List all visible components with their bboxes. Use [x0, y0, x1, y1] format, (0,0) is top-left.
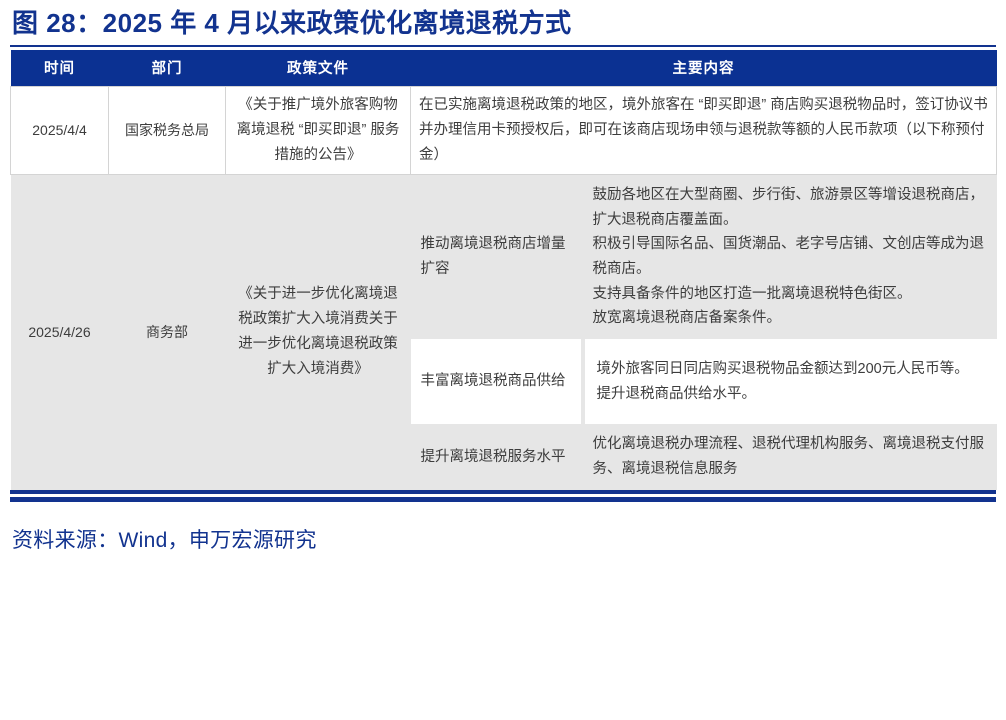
cell-doc: 《关于进一步优化离境退税政策扩大入境消费关于进一步优化离境退税政策扩大入境消费》: [226, 175, 411, 490]
sub-row-topic: 丰富离境退税商品供给: [411, 339, 581, 424]
sub-row-line: 提升退税商品供给水平。: [597, 382, 979, 407]
page-title: 图 28：2025 年 4 月以来政策优化离境退税方式: [10, 0, 996, 43]
column-header-dept: 部门: [109, 50, 226, 87]
sub-row-topic: 提升离境退税服务水平: [411, 424, 581, 489]
sub-row-topic: 推动离境退税商店增量扩容: [411, 175, 581, 339]
figure-page: 图 28：2025 年 4 月以来政策优化离境退税方式 时间 部门 政策文件 主…: [0, 0, 1006, 720]
sub-row-line: 优化离境退税办理流程、退税代理机构服务、离境退税支付服务、离境退税信息服务: [593, 432, 987, 481]
cell-doc: 《关于推广境外旅客购物离境退税 “即买即退” 服务措施的公告》: [226, 87, 411, 175]
table-row: 2025/4/26 商务部 《关于进一步优化离境退税政策扩大入境消费关于进一步优…: [11, 175, 997, 490]
cell-content-group: 推动离境退税商店增量扩容 鼓励各地区在大型商圈、步行街、旅游景区等增设退税商店，…: [411, 175, 997, 490]
sub-row: 提升离境退税服务水平 优化离境退税办理流程、退税代理机构服务、离境退税支付服务、…: [411, 424, 997, 489]
cell-time: 2025/4/4: [11, 87, 109, 175]
cell-dept: 商务部: [109, 175, 226, 490]
sub-row-body: 优化离境退税办理流程、退税代理机构服务、离境退税支付服务、离境退税信息服务: [581, 424, 997, 489]
column-header-time: 时间: [11, 50, 109, 87]
sub-row-line: 支持具备条件的地区打造一批离境退税特色街区。: [593, 282, 987, 307]
cell-time: 2025/4/26: [11, 175, 109, 490]
sub-row: 推动离境退税商店增量扩容 鼓励各地区在大型商圈、步行街、旅游景区等增设退税商店，…: [411, 175, 997, 339]
table-header-row: 时间 部门 政策文件 主要内容: [11, 50, 997, 87]
sub-row-body: 境外旅客同日同店购买退税物品金额达到200元人民币等。 提升退税商品供给水平。: [581, 339, 997, 424]
sub-row-body: 鼓励各地区在大型商圈、步行街、旅游景区等增设退税商店，扩大退税商店覆盖面。 积极…: [581, 175, 997, 339]
policy-table: 时间 部门 政策文件 主要内容 2025/4/4 国家税务总局 《关于推广境外旅…: [10, 50, 997, 489]
sub-row-line: 积极引导国际名品、国货潮品、老字号店铺、文创店等成为退税商店。: [593, 232, 987, 281]
sub-row-line: 境外旅客同日同店购买退税物品金额达到200元人民币等。: [597, 357, 979, 382]
column-header-content: 主要内容: [411, 50, 997, 87]
sub-row: 丰富离境退税商品供给 境外旅客同日同店购买退税物品金额达到200元人民币等。 提…: [411, 339, 997, 424]
cell-content: 在已实施离境退税政策的地区，境外旅客在 “即买即退” 商店购买退税物品时，签订协…: [411, 87, 997, 175]
cell-dept: 国家税务总局: [109, 87, 226, 175]
sub-row-line: 放宽离境退税商店备案条件。: [593, 306, 987, 331]
sub-row-line: 鼓励各地区在大型商圈、步行街、旅游景区等增设退税商店，扩大退税商店覆盖面。: [593, 183, 987, 232]
table-bottom-rules: [10, 490, 996, 502]
column-header-doc: 政策文件: [226, 50, 411, 87]
source-note: 资料来源：Wind，申万宏源研究: [10, 502, 996, 554]
table-header: 时间 部门 政策文件 主要内容: [11, 50, 997, 87]
table-body: 2025/4/4 国家税务总局 《关于推广境外旅客购物离境退税 “即买即退” 服…: [11, 87, 997, 490]
sub-row-table: 推动离境退税商店增量扩容 鼓励各地区在大型商圈、步行街、旅游景区等增设退税商店，…: [411, 175, 997, 489]
table-row: 2025/4/4 国家税务总局 《关于推广境外旅客购物离境退税 “即买即退” 服…: [11, 87, 997, 175]
